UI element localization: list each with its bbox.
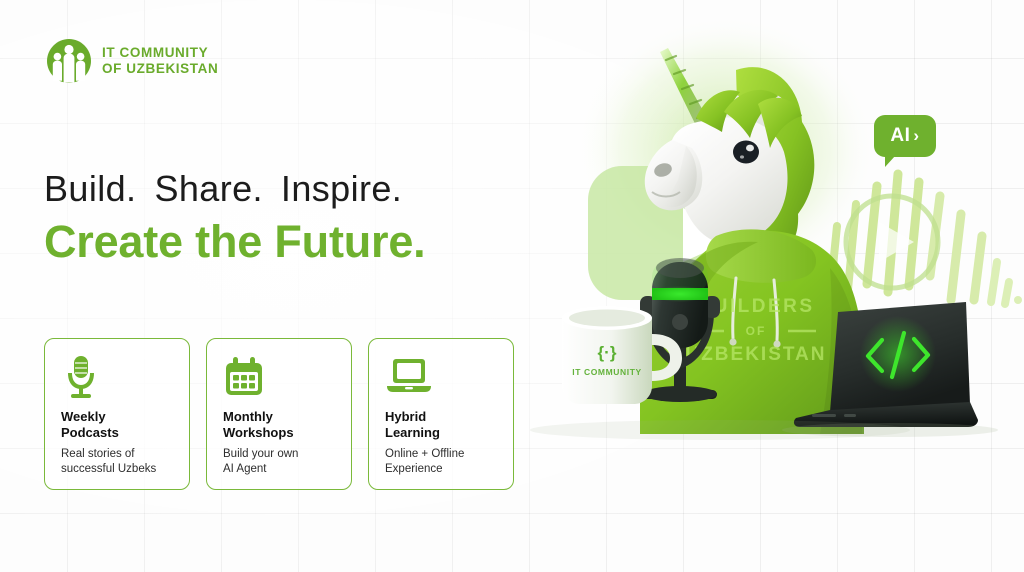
- feature-card-monthly-workshops[interactable]: Monthly Workshops Build your own AI Agen…: [206, 338, 352, 490]
- microphone-icon: [61, 355, 175, 399]
- unicorn-eye: [733, 141, 759, 164]
- feature-card-description: Real stories of successful Uzbeks: [61, 447, 175, 477]
- headline-word-inspire: Inspire.: [281, 168, 402, 209]
- svg-text:UZBEKISTAN: UZBEKISTAN: [685, 344, 826, 365]
- feature-card-title: Monthly Workshops: [223, 409, 337, 441]
- feature-card-description: Build your own AI Agent: [223, 447, 337, 477]
- headline-line-2: Create the Future.: [44, 216, 425, 268]
- svg-text:IT COMMUNITY: IT COMMUNITY: [572, 367, 642, 377]
- headline-line-1: Build.Share.Inspire.: [44, 168, 425, 210]
- feature-card-title: Hybrid Learning: [385, 409, 499, 441]
- calendar-icon: [223, 355, 337, 399]
- hero-banner: BUILDERS OF UZBEKISTAN: [0, 0, 1024, 572]
- illustration-area: BUILDERS OF UZBEKISTAN: [500, 0, 1024, 572]
- chevron-right-icon: ›: [913, 126, 919, 146]
- svg-text:{·}: {·}: [598, 343, 617, 362]
- feature-cards: Weekly Podcasts Real stories of successf…: [44, 338, 514, 490]
- community-people-circle-icon: [46, 38, 92, 84]
- laptop-icon: [385, 355, 499, 399]
- headline-word-build: Build.: [44, 168, 136, 209]
- feature-card-weekly-podcasts[interactable]: Weekly Podcasts Real stories of successf…: [44, 338, 190, 490]
- brand-logo-text: IT COMMUNITY OF UZBEKISTAN: [102, 45, 218, 76]
- brand-name-line2: OF UZBEKISTAN: [102, 61, 218, 77]
- headline: Build.Share.Inspire. Create the Future.: [44, 168, 425, 268]
- ai-badge[interactable]: AI ›: [874, 115, 936, 157]
- feature-card-title: Weekly Podcasts: [61, 409, 175, 441]
- svg-text:OF: OF: [746, 324, 767, 338]
- brand-name-line1: IT COMMUNITY: [102, 45, 218, 61]
- feature-card-description: Online + Offline Experience: [385, 447, 499, 477]
- feature-card-hybrid-learning[interactable]: Hybrid Learning Online + Offline Experie…: [368, 338, 514, 490]
- ai-badge-label: AI: [890, 125, 910, 147]
- brand-logo[interactable]: IT COMMUNITY OF UZBEKISTAN: [46, 38, 218, 84]
- headline-word-share: Share.: [154, 168, 262, 209]
